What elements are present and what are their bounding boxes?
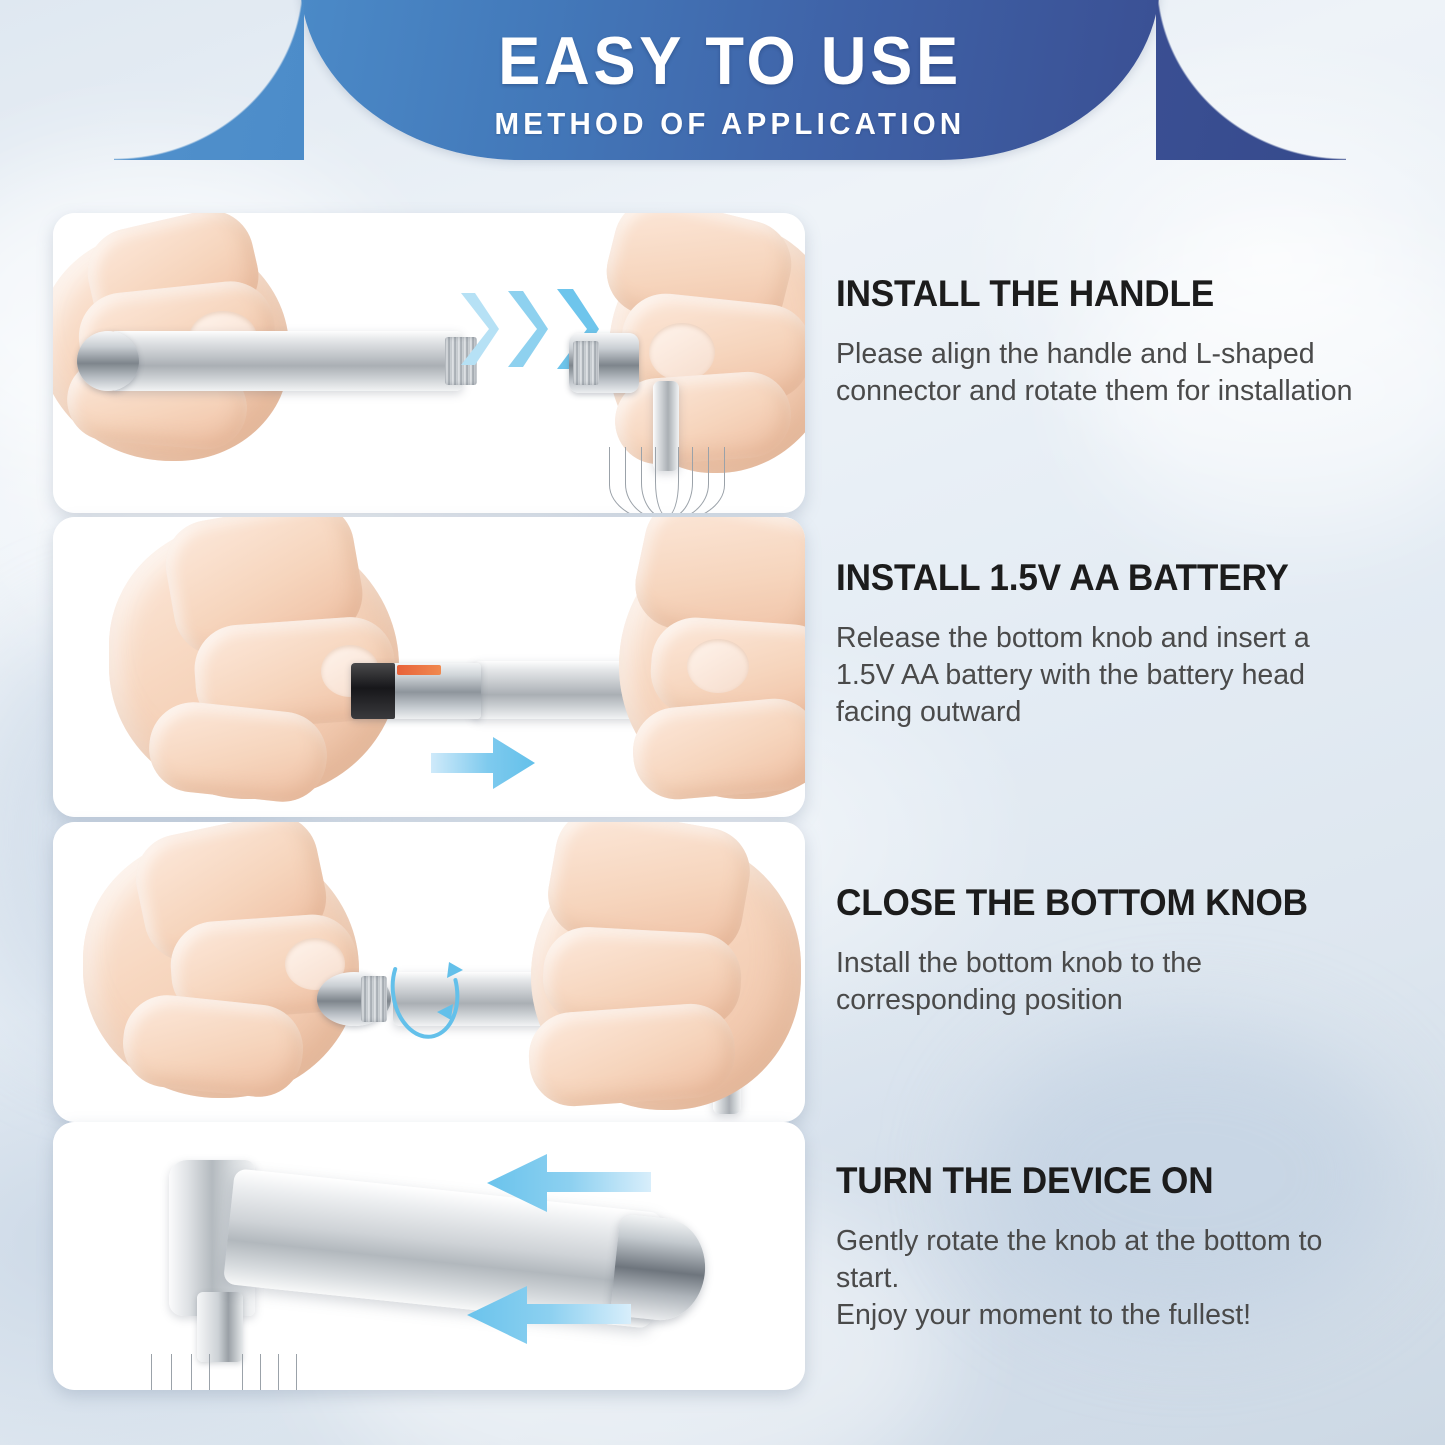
step-row-4: TURN THE DEVICE ON Gently rotate the kno… [0,1122,1445,1390]
step-3-description: Install the bottom knob to the correspon… [836,945,1436,1019]
desc-line: start. [836,1260,1436,1297]
page-subtitle: METHOD OF APPLICATION [322,106,1139,142]
step-1-photo-card [53,213,805,513]
desc-line: Install the bottom knob to the [836,945,1436,982]
step-2-text: INSTALL 1.5V AA BATTERY Release the bott… [836,559,1436,731]
battery-label-stripe [397,665,441,675]
finger [629,695,805,803]
silver-handle [109,331,463,391]
step-2-description: Release the bottom knob and insert a 1.5… [836,620,1436,731]
step-row-1: INSTALL THE HANDLE Please align the hand… [0,213,1445,513]
connector-thread [573,341,599,385]
chevron-right-icon-1 [459,291,501,367]
desc-line: Release the bottom knob and insert a [836,620,1436,657]
step-1-title: INSTALL THE HANDLE [836,275,1406,314]
step-1-illustration [53,213,805,513]
step-4-text: TURN THE DEVICE ON Gently rotate the kno… [836,1162,1436,1334]
step-3-illustration [53,822,805,1122]
step-1-text: INSTALL THE HANDLE Please align the hand… [836,275,1436,410]
fingernail [649,323,715,381]
desc-line: Enjoy your moment to the fullest! [836,1297,1436,1334]
step-4-title: TURN THE DEVICE ON [836,1162,1406,1201]
arrow-left-icon-1 [485,1152,653,1214]
step-1-description: Please align the handle and L-shaped con… [836,336,1436,410]
step-3-title: CLOSE THE BOTTOM KNOB [836,884,1406,923]
arrow-left-icon-2 [465,1284,633,1346]
step-3-text: CLOSE THE BOTTOM KNOB Install the bottom… [836,884,1436,1019]
desc-line: connector and rotate them for installati… [836,373,1436,410]
step-4-description: Gently rotate the knob at the bottom to … [836,1223,1436,1334]
arrow-right-icon [431,733,537,793]
whisk-neck [197,1292,243,1362]
whisk-wire [209,1354,243,1390]
header-banner: EASY TO USE METHOD OF APPLICATION [300,0,1160,160]
finger [526,1001,738,1109]
rotate-circle-icon [377,940,473,1042]
step-row-2: INSTALL 1.5V AA BATTERY Release the bott… [0,517,1445,817]
step-2-title: INSTALL 1.5V AA BATTERY [836,559,1406,598]
chevron-right-icon-2 [506,289,550,369]
desc-line: corresponding position [836,982,1436,1019]
desc-line: facing outward [836,694,1436,731]
desc-line: 1.5V AA battery with the battery head [836,657,1436,694]
step-2-illustration [53,517,805,817]
handle-end-cap [77,331,139,391]
page-title: EASY TO USE [330,27,1130,95]
step-3-photo-card [53,822,805,1122]
battery-negative-end [351,663,395,719]
step-2-photo-card [53,517,805,817]
step-4-illustration [53,1122,805,1390]
step-row-3: CLOSE THE BOTTOM KNOB Install the bottom… [0,822,1445,1122]
infographic-page: EASY TO USE METHOD OF APPLICATION [0,0,1445,1445]
whisk-wire [655,447,679,513]
step-4-photo-card [53,1122,805,1390]
desc-line: Please align the handle and L-shaped [836,336,1436,373]
desc-line: Gently rotate the knob at the bottom to [836,1223,1436,1260]
fingernail [687,639,749,693]
